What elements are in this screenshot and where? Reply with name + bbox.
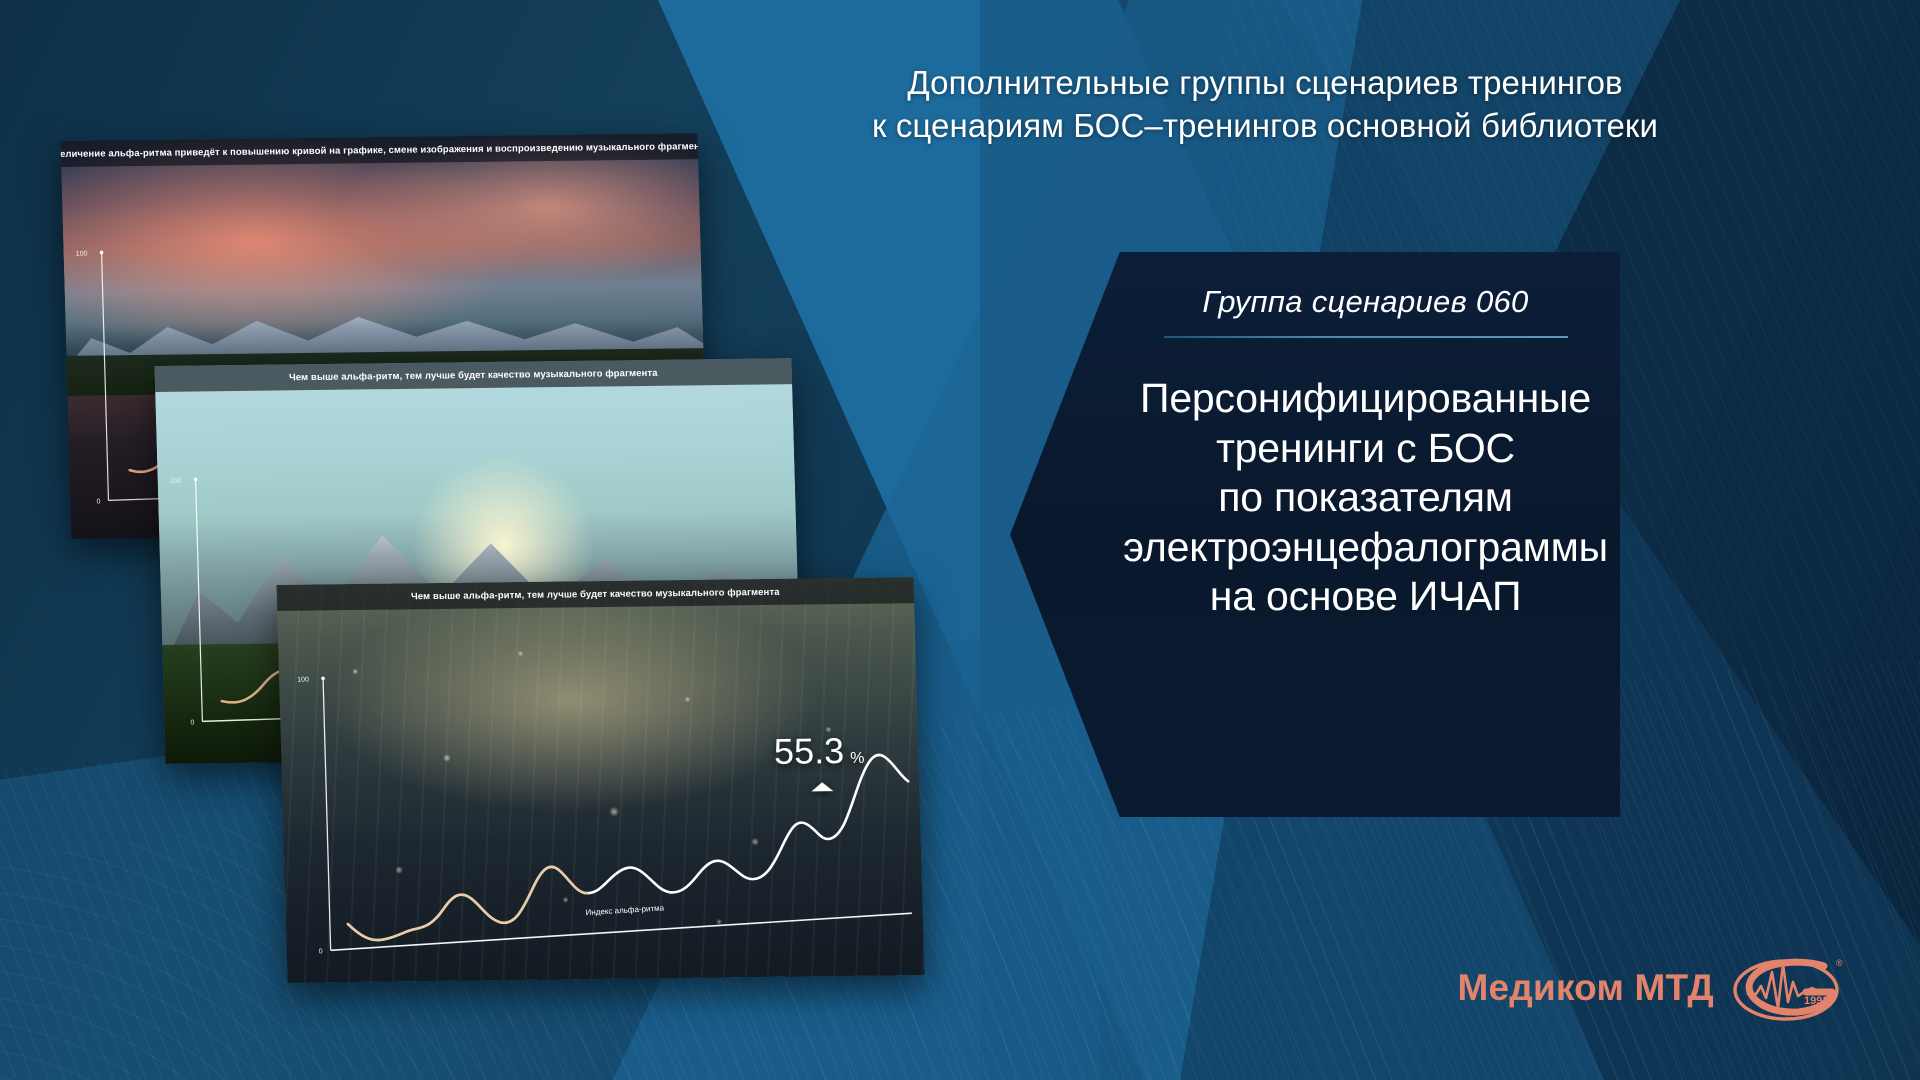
svg-text:100: 100 <box>170 478 182 485</box>
panel-title-line-2: тренинги с БОС <box>1123 424 1608 474</box>
svg-text:0: 0 <box>190 719 194 726</box>
svg-text:0: 0 <box>96 498 100 505</box>
svg-text:100: 100 <box>76 251 88 258</box>
panel-divider <box>1164 336 1568 338</box>
header-line-2: к сценариям БОС–тренингов основной библи… <box>760 105 1770 148</box>
logo-wordmark: Медиком МТД <box>1458 967 1715 1009</box>
svg-text:100: 100 <box>297 677 309 684</box>
screenshot-card-3[interactable]: Чем выше альфа-ритм, тем лучше будет кач… <box>276 577 924 983</box>
panel-title-line-5: на основе ИЧАП <box>1123 572 1608 622</box>
panel-title: Персонифицированные тренинги с БОС по по… <box>1123 374 1608 622</box>
panel-kicker: Группа сценариев 060 <box>1202 284 1528 320</box>
card-3-chart: 100 0 Индекс альфа-ритма <box>278 645 924 983</box>
svg-text:0: 0 <box>319 948 323 955</box>
slide-header: Дополнительные группы сценариев тренинго… <box>760 62 1770 148</box>
logo-year: 1992 <box>1804 995 1828 1007</box>
panel-title-line-1: Персонифицированные <box>1123 374 1608 424</box>
card-3-x-axis-label: Индекс альфа-ритма <box>585 903 665 917</box>
panel-title-line-3: по показателям <box>1123 473 1608 523</box>
logo-registered-mark: ® <box>1836 958 1843 968</box>
panel-title-line-4: электроэнцефалограммы <box>1123 523 1608 573</box>
header-line-1: Дополнительные группы сценариев тренинго… <box>760 62 1770 105</box>
company-logo: Медиком МТД 1992 ® <box>1458 952 1849 1024</box>
logo-ecg-emblem-icon: 1992 ® <box>1728 952 1848 1024</box>
content-panel-body: Группа сценариев 060 Персонифицированные… <box>1118 252 1613 817</box>
